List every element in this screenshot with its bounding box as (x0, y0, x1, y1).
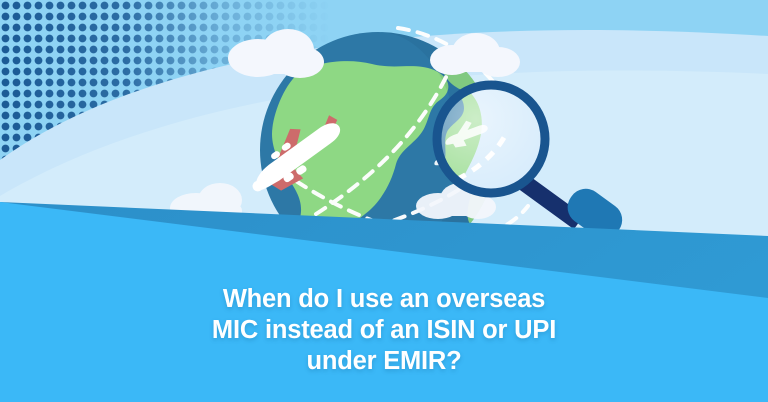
headline-line-1: When do I use an overseas (90, 284, 678, 315)
headline-line-2: MIC instead of an ISIN or UPI (90, 315, 678, 346)
promo-banner: When do I use an overseas MIC instead of… (0, 0, 768, 402)
banner-headline: When do I use an overseas MIC instead of… (0, 284, 768, 377)
headline-line-3: under EMIR? (90, 346, 678, 377)
